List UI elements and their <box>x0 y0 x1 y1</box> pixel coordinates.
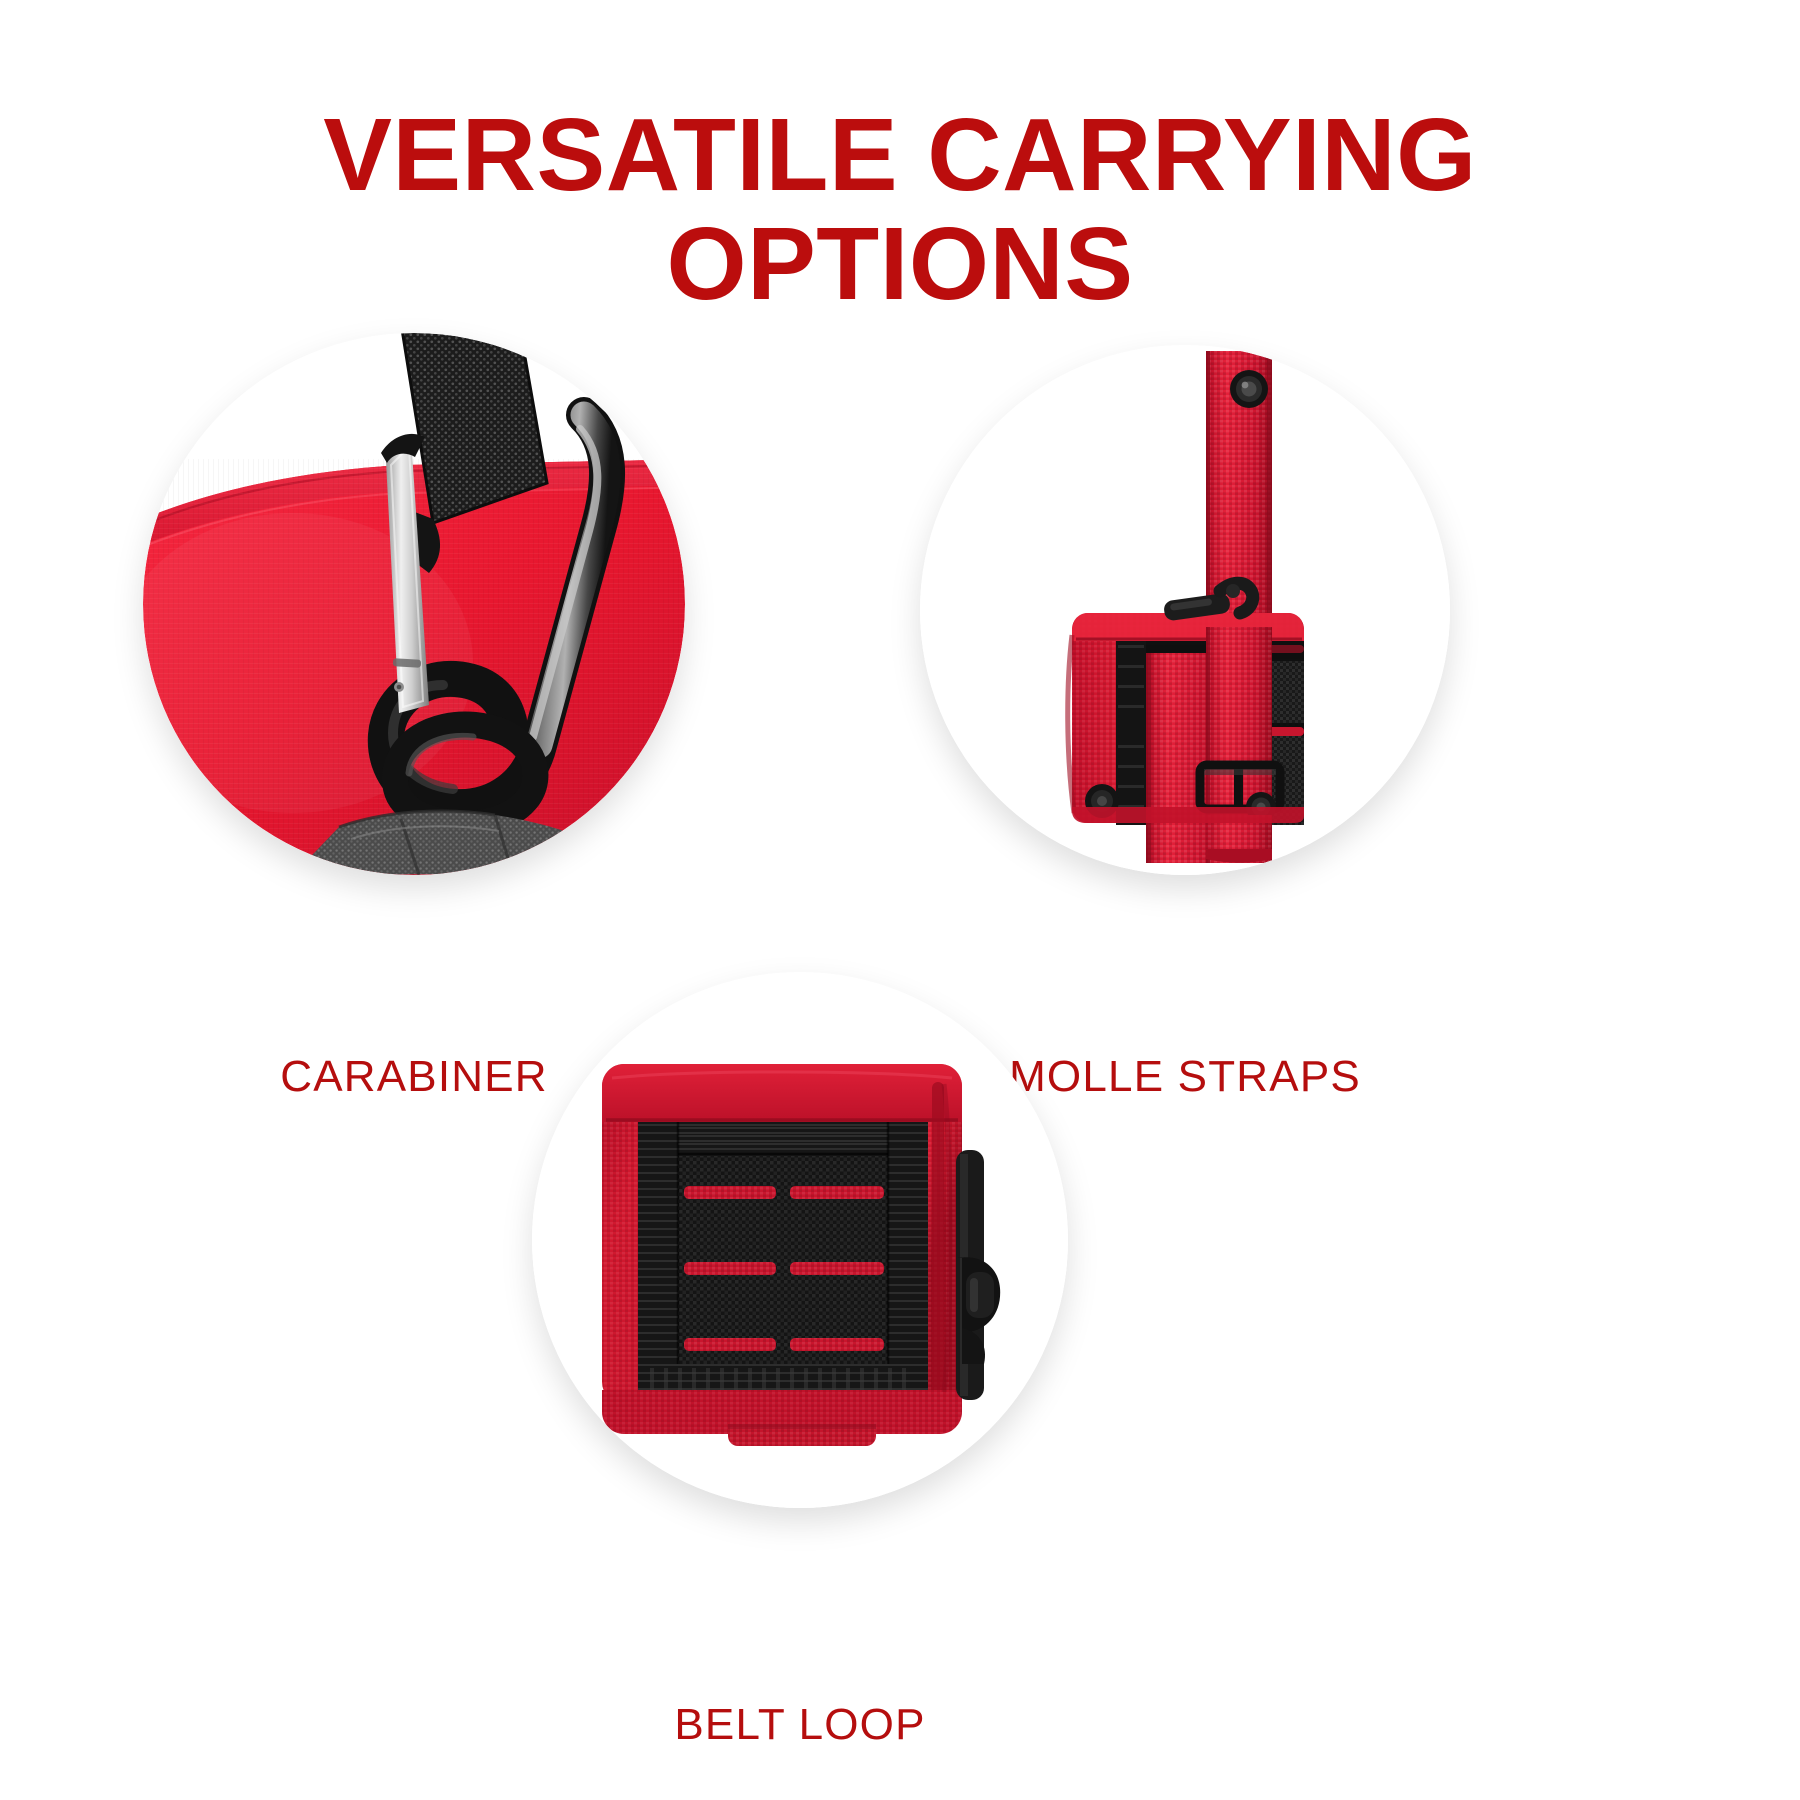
belt-loop-photo <box>532 972 1068 1508</box>
title-line-1: VERSATILE CARRYING <box>323 97 1477 212</box>
page-title: VERSATILE CARRYING OPTIONS <box>0 100 1800 318</box>
infographic-page: VERSATILE CARRYING OPTIONS <box>0 0 1800 1800</box>
title-line-2: OPTIONS <box>0 209 1800 318</box>
carabiner-photo <box>143 333 685 875</box>
molle-straps-photo <box>920 345 1450 875</box>
belt-loop-caption: BELT LOOP <box>450 1700 1150 1750</box>
